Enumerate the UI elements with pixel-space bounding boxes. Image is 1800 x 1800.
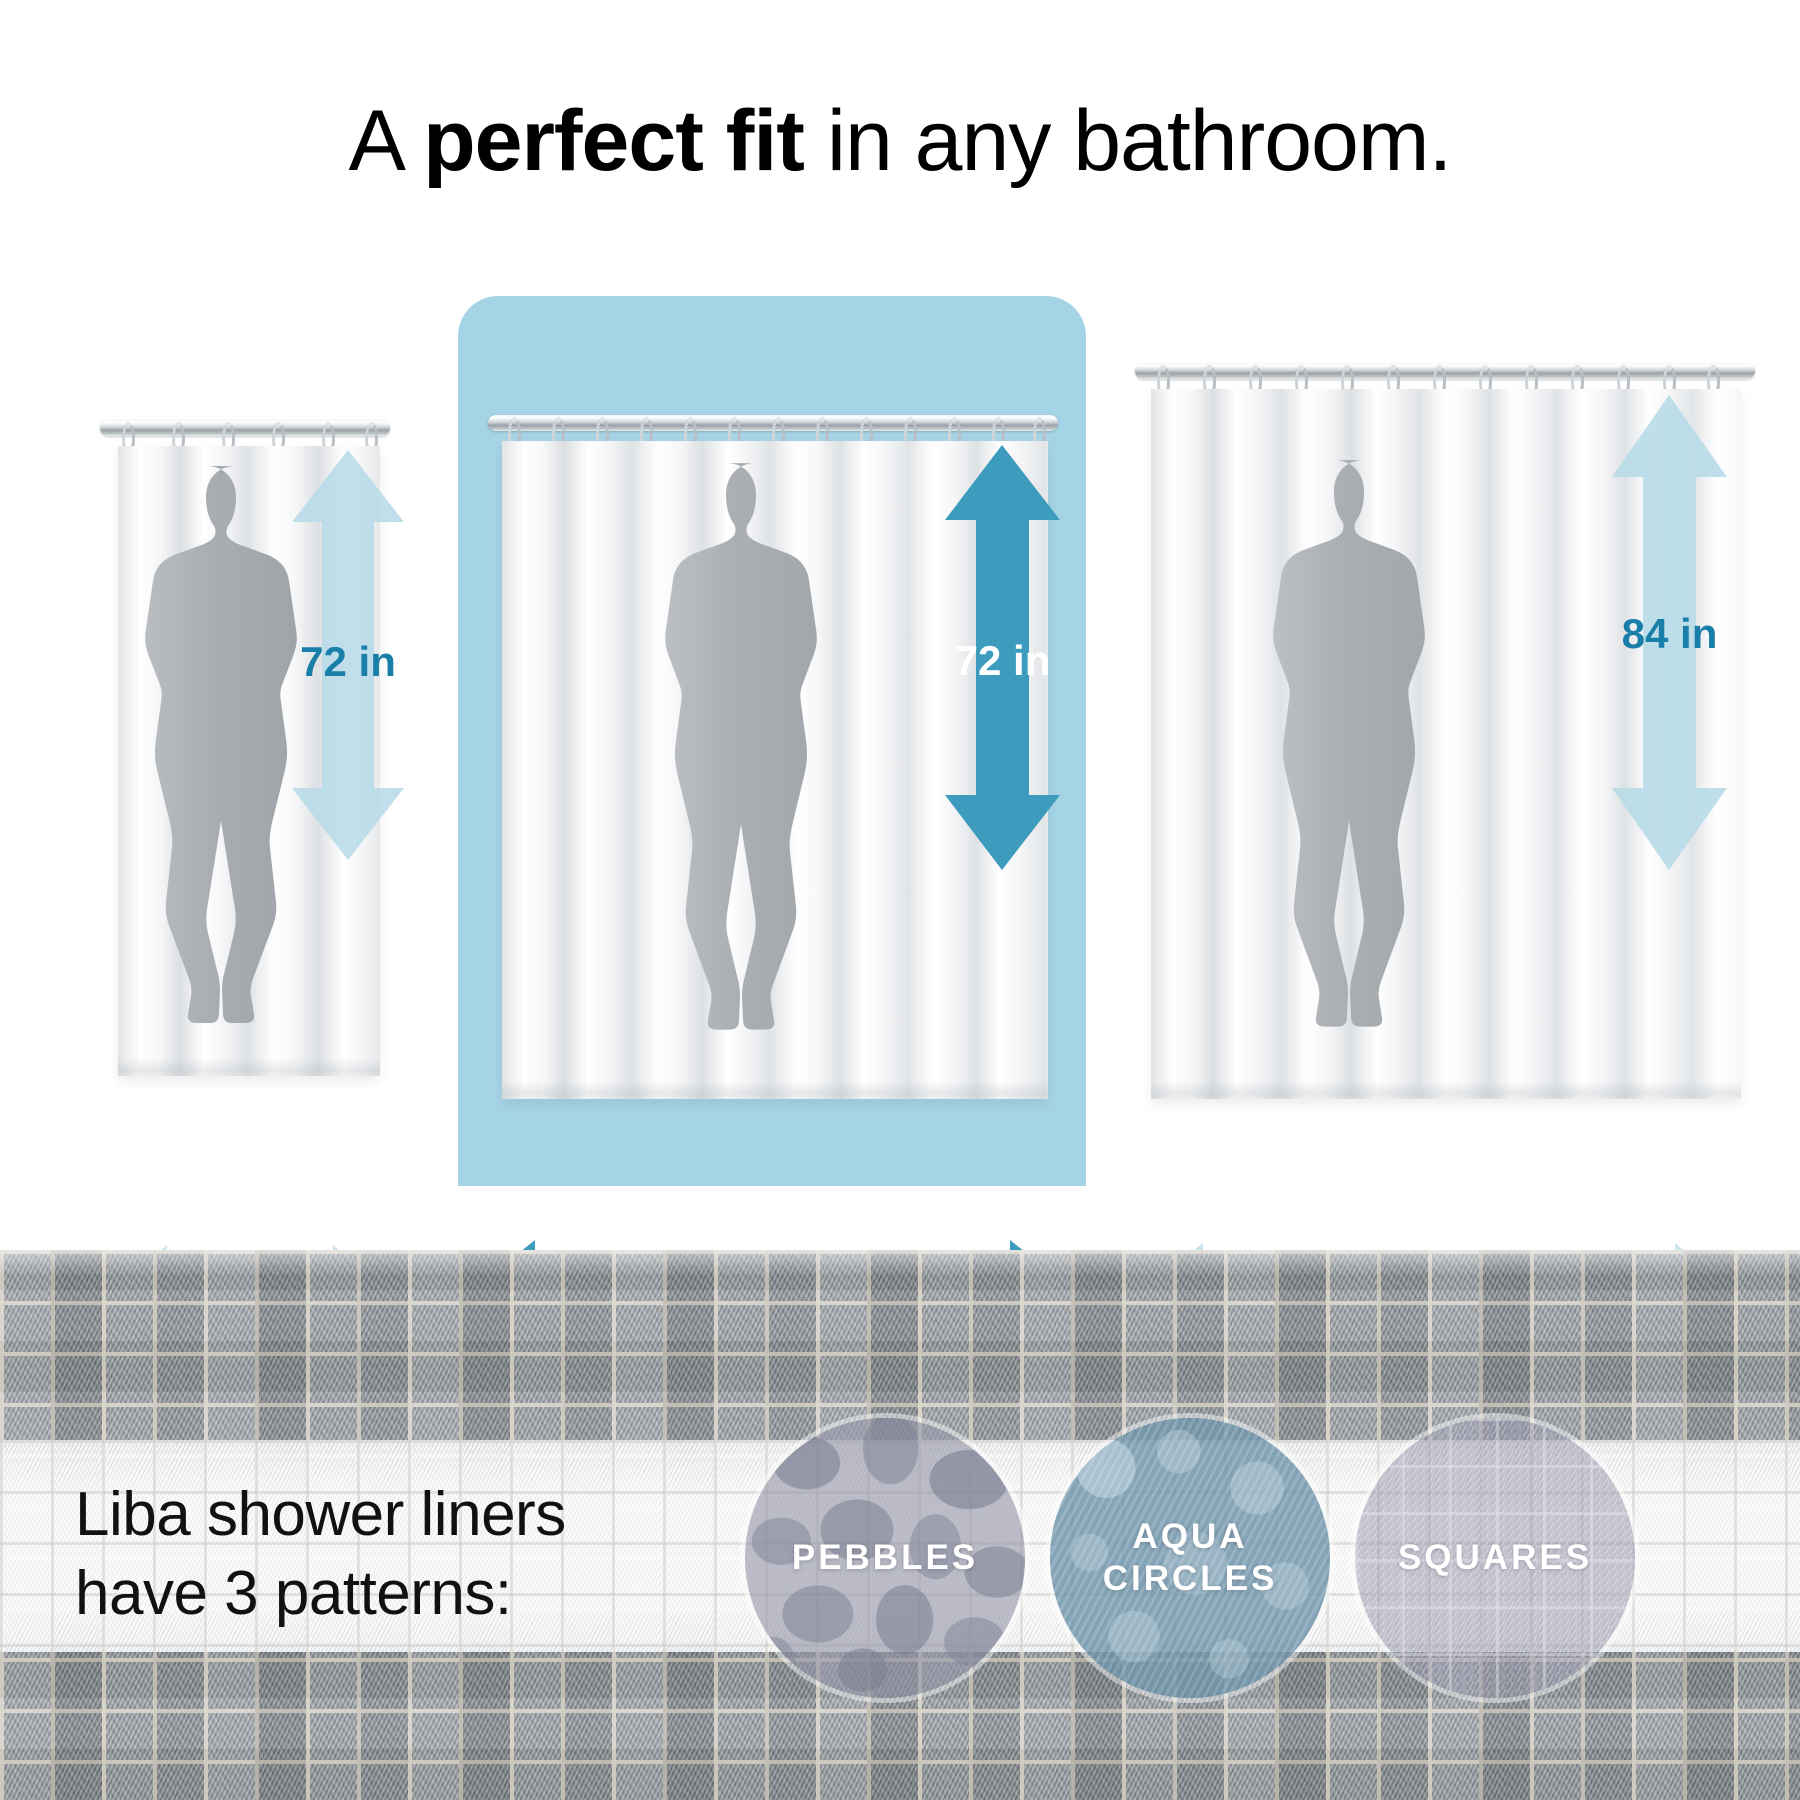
size-comparison-diagram: 72 in 36 in SHOWER STALL: [0, 230, 1800, 1250]
shower-stall-height-label: 72 in: [292, 638, 404, 686]
headline-suffix: in any bathroom.: [804, 93, 1451, 189]
pattern-label-pebbles: PEBBLES: [792, 1537, 978, 1579]
mosaic-top-fade: [0, 1250, 1800, 1276]
pattern-label-squares: SQUARES: [1398, 1537, 1592, 1579]
headline-emphasis: perfect fit: [423, 93, 804, 189]
pattern-label-aqua-circles: AQUA CIRCLES: [1103, 1516, 1278, 1600]
pattern-swatch-aqua-circles[interactable]: AQUA CIRCLES: [1050, 1418, 1330, 1698]
pattern-swatch-pebbles[interactable]: PEBBLES: [745, 1418, 1025, 1698]
curtain-hem: [118, 1058, 380, 1076]
standard-bathtub-height-arrow: 72 in: [945, 445, 1060, 870]
headline-prefix: A: [349, 93, 424, 189]
extra-tall-height-arrow: 84 in: [1612, 395, 1727, 870]
page-headline: A perfect fit in any bathroom.: [0, 96, 1800, 186]
human-silhouette: [660, 455, 850, 1055]
curtain-hem: [1151, 1081, 1741, 1099]
shower-stall-height-arrow: 72 in: [292, 450, 404, 860]
curtain-hem: [502, 1081, 1048, 1099]
standard-bathtub-height-label: 72 in: [945, 637, 1060, 685]
patterns-headline: Liba shower liners have 3 patterns:: [75, 1475, 566, 1634]
pattern-swatch-squares[interactable]: SQUARES: [1355, 1418, 1635, 1698]
human-silhouette: [1268, 452, 1458, 1052]
extra-tall-height-label: 84 in: [1612, 610, 1727, 658]
